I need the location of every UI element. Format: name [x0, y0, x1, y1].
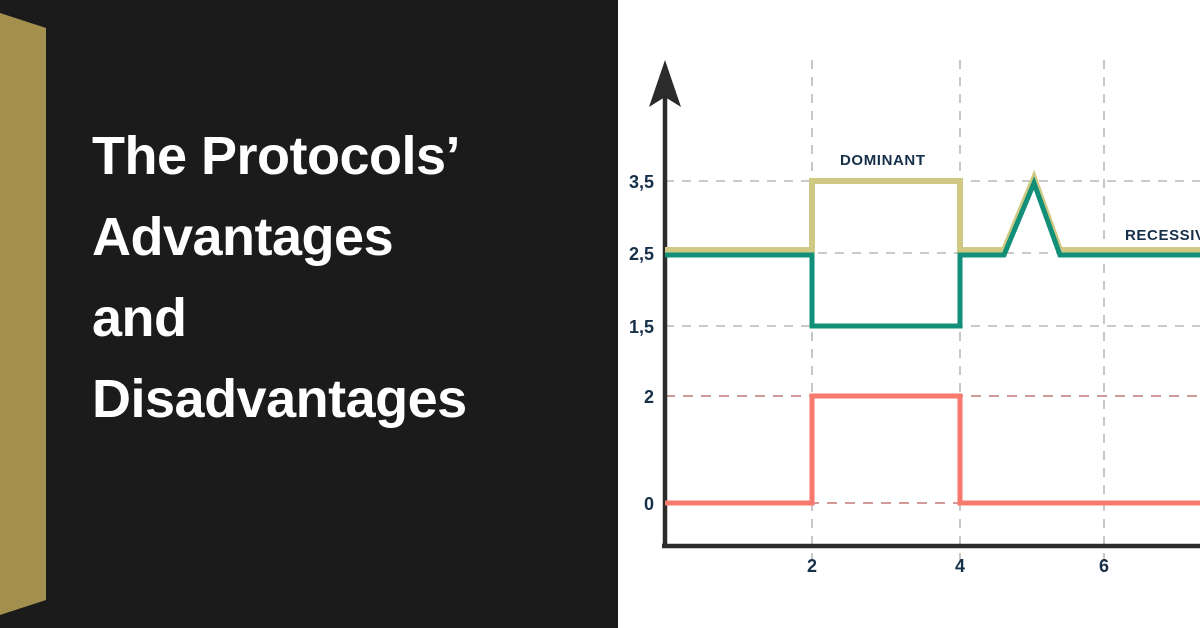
series-line-differential — [665, 396, 1200, 503]
y-tick-label-2-5: 2,5 — [629, 244, 654, 264]
slide-canvas: The Protocols’ Advantages and Disadvanta… — [0, 0, 1200, 628]
y-tick-label-3-5: 3,5 — [629, 172, 654, 192]
x-tick-label-2: 2 — [807, 556, 817, 576]
can-bus-signal-chart: 3,5 2,5 1,5 2 0 2 4 6 DOMINANT RECESSIVE — [618, 0, 1200, 628]
y-axis — [649, 60, 681, 548]
series-line-can-low — [665, 183, 1200, 326]
title-line-2: Advantages — [92, 197, 592, 278]
gridlines-horizontal-lower — [665, 396, 1200, 503]
title-panel: The Protocols’ Advantages and Disadvanta… — [0, 0, 618, 628]
page-title: The Protocols’ Advantages and Disadvanta… — [92, 116, 592, 440]
title-line-1: The Protocols’ — [92, 116, 592, 197]
y-tick-label-lower-0: 0 — [644, 494, 654, 514]
x-tick-label-6: 6 — [1099, 556, 1109, 576]
title-line-4: Disadvantages — [92, 359, 592, 440]
chart-panel: 3,5 2,5 1,5 2 0 2 4 6 DOMINANT RECESSIVE — [618, 0, 1200, 628]
y-tick-label-1-5: 1,5 — [629, 317, 654, 337]
gold-accent-stripe — [0, 0, 48, 628]
title-line-3: and — [92, 278, 592, 359]
annotation-dominant: DOMINANT — [840, 152, 926, 169]
annotation-recessive: RECESSIVE — [1125, 227, 1200, 244]
x-tick-label-4: 4 — [955, 556, 965, 576]
y-tick-label-lower-2: 2 — [644, 387, 654, 407]
series-line-can-high — [665, 178, 1200, 250]
